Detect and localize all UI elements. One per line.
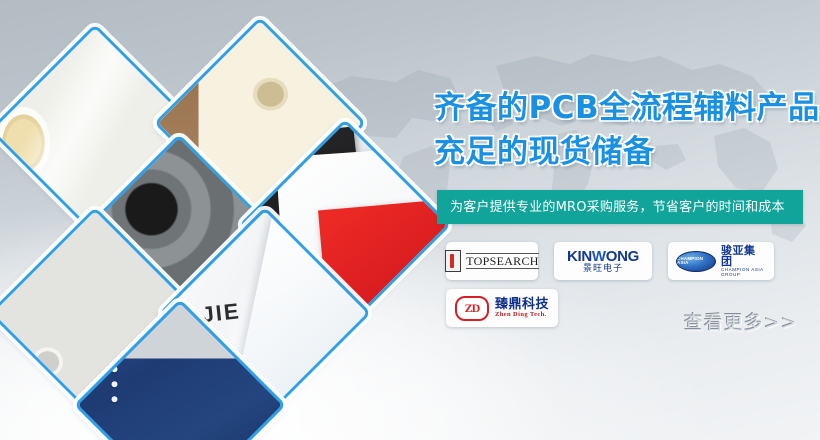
zhen-ding-text: 臻鼎科技 Zhen Ding Tech. [495, 298, 549, 319]
topsearch-wordmark: TOPSEARCH [466, 253, 539, 269]
partner-logo-row-1: TOPSEARCH KINWONG 景旺电子 CHAMPION ASIA 骏亚集… [446, 242, 806, 280]
headline-line-2: 充足的现货储备 [434, 130, 820, 174]
kinwong-wordmark: KINWONG [567, 249, 639, 264]
kinwong-chinese-name: 景旺电子 [583, 265, 623, 274]
zhen-ding-chinese-name: 臻鼎科技 [495, 298, 549, 311]
banner-subtitle-bar: 为客户提供专业的MRO采购服务，节省客户的时间和成本 [437, 190, 803, 224]
banner-subtitle-text: 为客户提供专业的MRO采购服务，节省客户的时间和成本 [437, 201, 785, 214]
champion-asia-english-name: CHAMPION ASIA GROUP [721, 268, 766, 277]
partner-logo-champion-asia[interactable]: CHAMPION ASIA 骏亚集团 CHAMPION ASIA GROUP [668, 242, 774, 280]
banner-headline: 齐备的PCB全流程辅料产品、 充足的现货储备 [434, 86, 820, 174]
champion-asia-chinese-name: 骏亚集团 [721, 245, 766, 267]
label-print-text: JIE [200, 300, 241, 326]
product-collage: JIE [0, 0, 430, 440]
champion-asia-text: 骏亚集团 CHAMPION ASIA GROUP [721, 245, 766, 277]
promo-banner: JIE 齐备的PCB全流程辅料产品、 充足的现货储备 为客户提供专业的MRO采购… [0, 0, 820, 440]
headline-line-1: 齐备的PCB全流程辅料产品、 [434, 90, 820, 126]
view-more-link[interactable]: 查看更多>> [684, 314, 798, 333]
zhen-ding-english-name: Zhen Ding Tech. [495, 312, 549, 319]
partner-logo-zhen-ding[interactable]: ZD 臻鼎科技 Zhen Ding Tech. [446, 289, 558, 327]
zhen-ding-badge-icon: ZD [455, 296, 489, 321]
topsearch-mark-icon [445, 250, 461, 272]
partner-logo-topsearch[interactable]: TOPSEARCH [446, 242, 538, 280]
champion-asia-globe-icon: CHAMPION ASIA [676, 251, 716, 272]
partner-logo-kinwong[interactable]: KINWONG 景旺电子 [554, 242, 652, 280]
